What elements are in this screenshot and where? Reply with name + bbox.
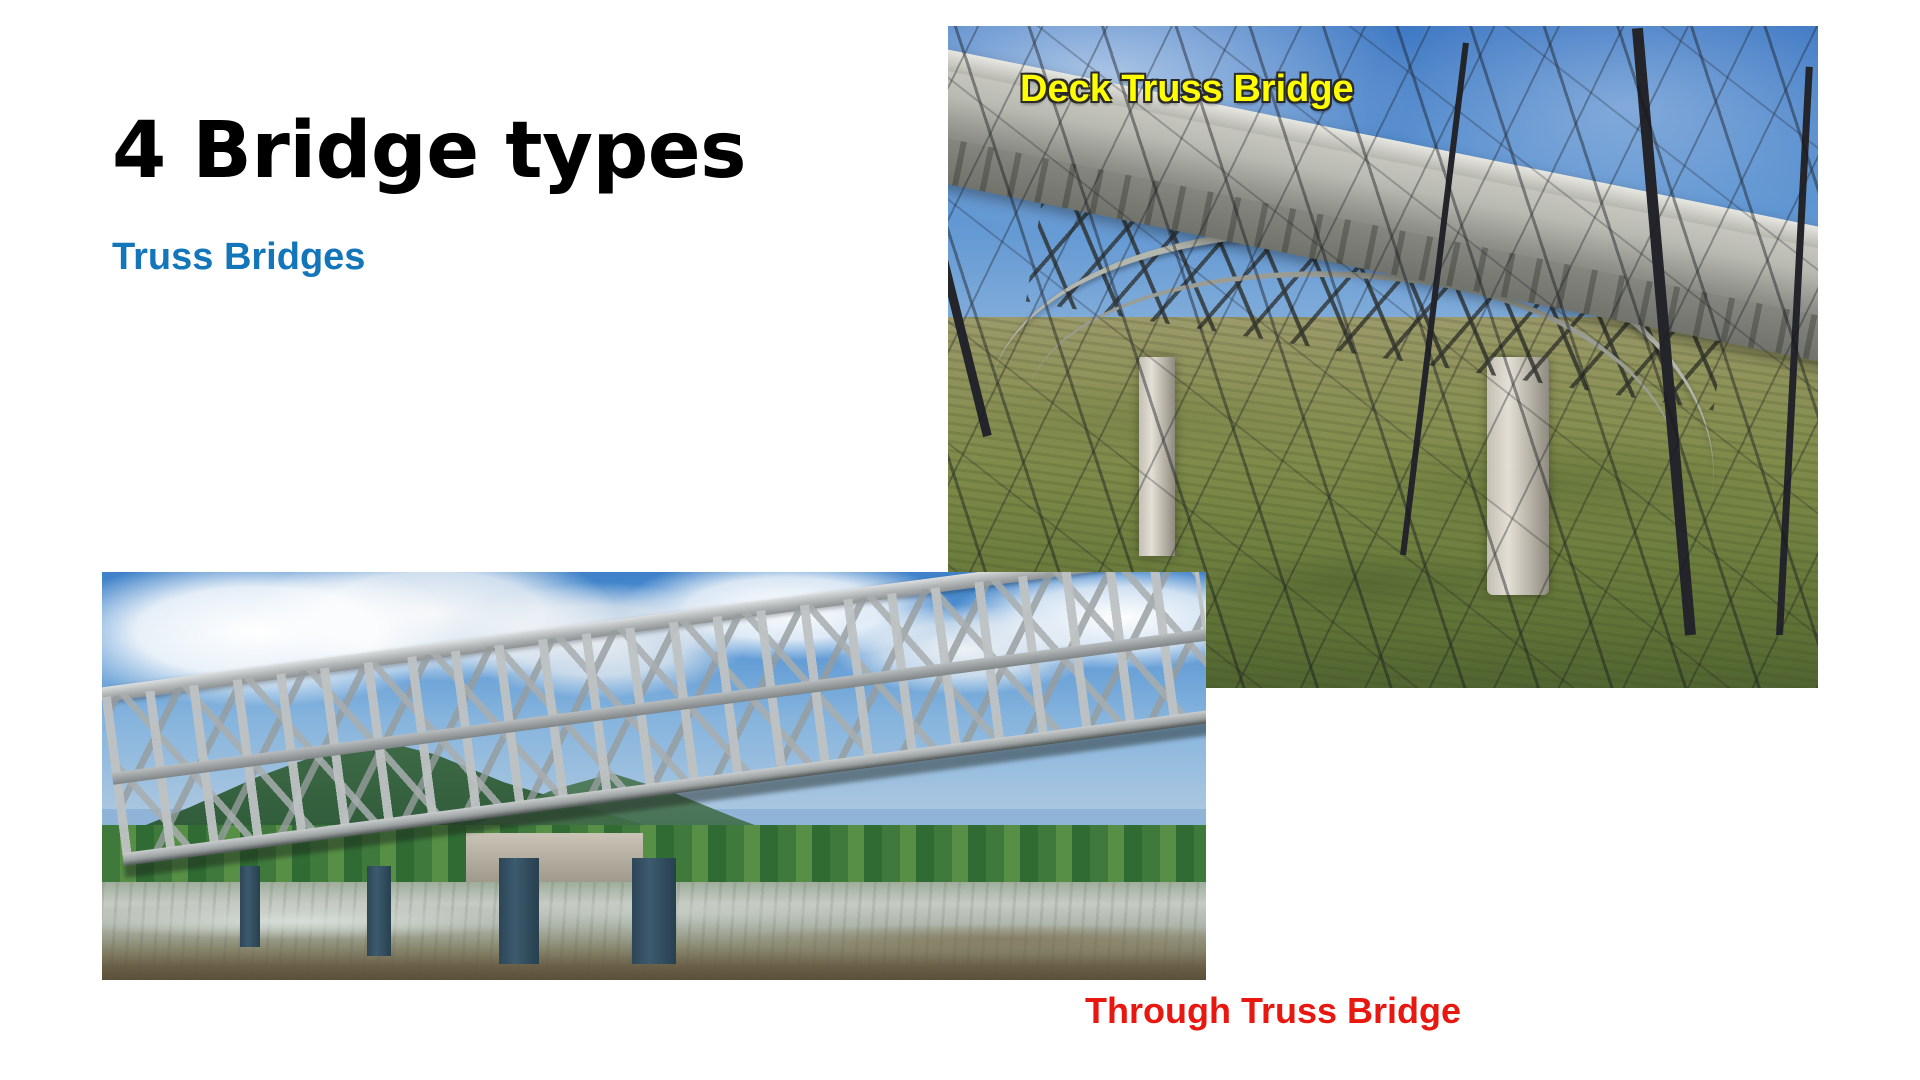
bridge-pier <box>499 858 539 964</box>
through-truss-scene <box>102 572 1206 980</box>
bridge-pier <box>367 866 391 956</box>
deck-truss-label: Deck Truss Bridge <box>1020 68 1354 111</box>
slide-canvas: 4 Bridge types Truss Bridges Deck Truss … <box>0 0 1920 1080</box>
page-title: 4 Bridge types <box>112 112 872 190</box>
bridge-pier <box>240 866 260 948</box>
bridge-pier <box>632 858 676 964</box>
bridge-abutment <box>466 833 643 882</box>
title-block: 4 Bridge types Truss Bridges <box>112 112 872 276</box>
slide-subtitle: Truss Bridges <box>112 190 872 276</box>
through-truss-caption: Through Truss Bridge <box>1085 993 1461 1029</box>
through-truss-photo <box>102 572 1206 980</box>
